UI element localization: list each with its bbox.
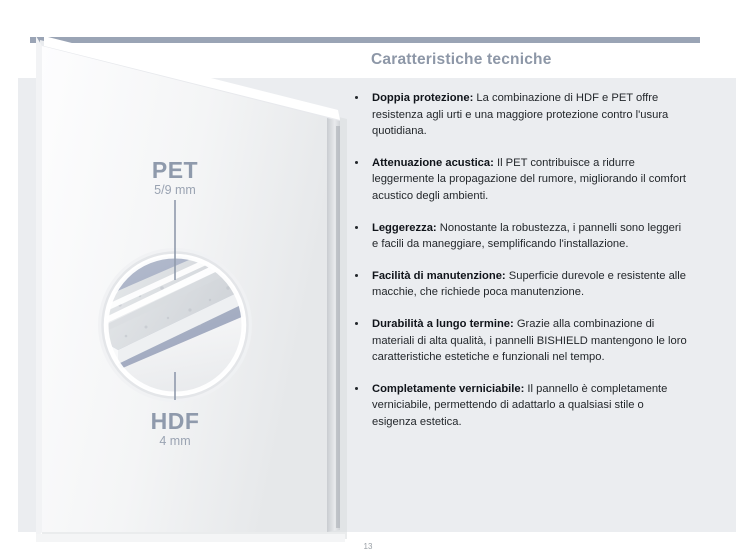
feature-title: Durabilità a lungo termine: [372,318,514,330]
feature-title: Attenuazione acustica: [372,157,494,169]
slide-page: PET 5/9 mm HDF 4 mm Caratteristiche tecn… [0,0,736,558]
hdf-layer-label: HDF 4 mm [95,409,255,450]
feature-list-item: Completamente verniciabile: Il pannello … [352,381,688,431]
bullet-dot-icon [355,161,358,164]
bullet-dot-icon [355,387,358,390]
feature-list-item: Durabilità a lungo termine: Grazie alla … [352,316,688,366]
hdf-label-name: HDF [95,409,255,433]
bullet-dot-icon [355,96,358,99]
page-number: 13 [0,542,736,551]
feature-list-item: Facilità di manutenzione: Superficie dur… [352,268,688,301]
bullet-dot-icon [355,226,358,229]
bullet-dot-icon [355,274,358,277]
feature-list-item: Leggerezza: Nonostante la robustezza, i … [352,220,688,253]
feature-list: Doppia protezione: La combinazione di HD… [352,90,688,431]
feature-list-item: Attenuazione acustica: Il PET contribuis… [352,155,688,205]
feature-title: Completamente verniciabile: [372,383,524,395]
pet-layer-label: PET 5/9 mm [95,158,255,199]
feature-title: Facilità di manutenzione: [372,270,506,282]
panel-illustration [0,0,360,558]
feature-list-item: Doppia protezione: La combinazione di HD… [352,90,688,140]
page-title: Caratteristiche tecniche [371,51,552,69]
bullet-dot-icon [355,322,358,325]
feature-title: Doppia protezione: [372,92,473,104]
hdf-label-thickness: 4 mm [95,433,255,450]
pet-label-thickness: 5/9 mm [95,182,255,199]
pet-label-name: PET [95,158,255,182]
feature-title: Leggerezza: [372,222,437,234]
